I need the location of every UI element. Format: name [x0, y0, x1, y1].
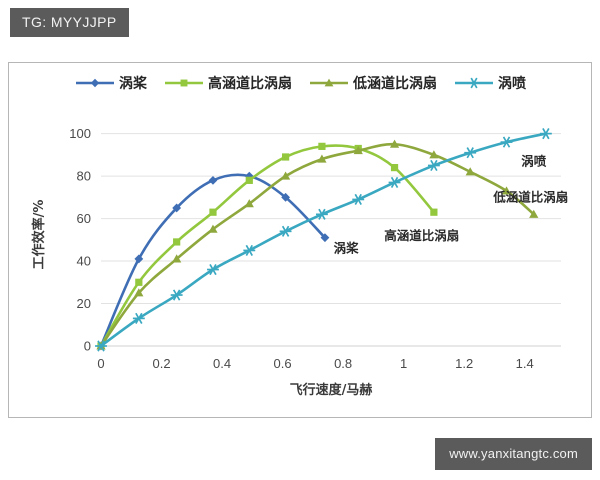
y-tick-label: 80	[77, 169, 91, 184]
data-point-marker	[282, 153, 289, 160]
series-annotation: 涡喷	[521, 153, 547, 168]
x-tick-label: 1.2	[455, 356, 473, 371]
series-annotation: 低涵道比涡扇	[492, 190, 568, 205]
x-tick-label: 0	[97, 356, 104, 371]
chart-panel: 涡桨高涵道比涡扇低涵道比涡扇涡喷 02040608010000.20.40.60…	[8, 62, 592, 418]
x-tick-label: 1.4	[516, 356, 534, 371]
data-point-marker	[540, 128, 552, 138]
data-point-marker	[391, 164, 398, 171]
y-tick-label: 40	[77, 254, 91, 269]
y-tick-label: 20	[77, 296, 91, 311]
y-axis-title: 工作效率/%	[31, 200, 47, 270]
data-point-marker	[246, 177, 253, 184]
tg-badge: TG: MYYJJPP	[10, 8, 129, 37]
x-tick-label: 0.6	[274, 356, 292, 371]
x-tick-label: 0.4	[213, 356, 231, 371]
data-point-marker	[430, 209, 437, 216]
data-point-marker	[389, 177, 401, 187]
x-tick-label: 0.8	[334, 356, 352, 371]
data-point-marker	[173, 238, 180, 245]
series-2	[97, 143, 437, 350]
y-tick-label: 0	[84, 339, 91, 354]
x-tick-label: 1	[400, 356, 407, 371]
data-point-marker	[428, 160, 440, 170]
tg-badge-label: TG: MYYJJPP	[22, 14, 117, 30]
series-3	[96, 140, 538, 350]
data-point-marker	[318, 143, 325, 150]
data-point-marker	[135, 279, 142, 286]
chart-plot: 02040608010000.20.40.60.811.21.4飞行速度/马赫工…	[9, 63, 593, 419]
series-annotation: 涡桨	[334, 241, 360, 256]
x-tick-label: 0.2	[152, 356, 170, 371]
x-axis-title: 飞行速度/马赫	[290, 382, 373, 398]
data-point-marker	[209, 209, 216, 216]
series-line	[101, 145, 434, 346]
watermark-label: www.yanxitangtc.com	[449, 446, 578, 461]
watermark: www.yanxitangtc.com	[435, 438, 592, 470]
data-point-marker	[280, 226, 292, 236]
y-tick-label: 60	[77, 211, 91, 226]
data-point-marker	[352, 194, 364, 204]
data-point-marker	[316, 209, 328, 219]
series-annotation: 高涵道比涡扇	[384, 228, 459, 243]
data-point-marker	[464, 148, 476, 158]
y-tick-label: 100	[69, 126, 91, 141]
data-point-marker	[209, 176, 218, 185]
data-point-marker	[501, 137, 513, 147]
